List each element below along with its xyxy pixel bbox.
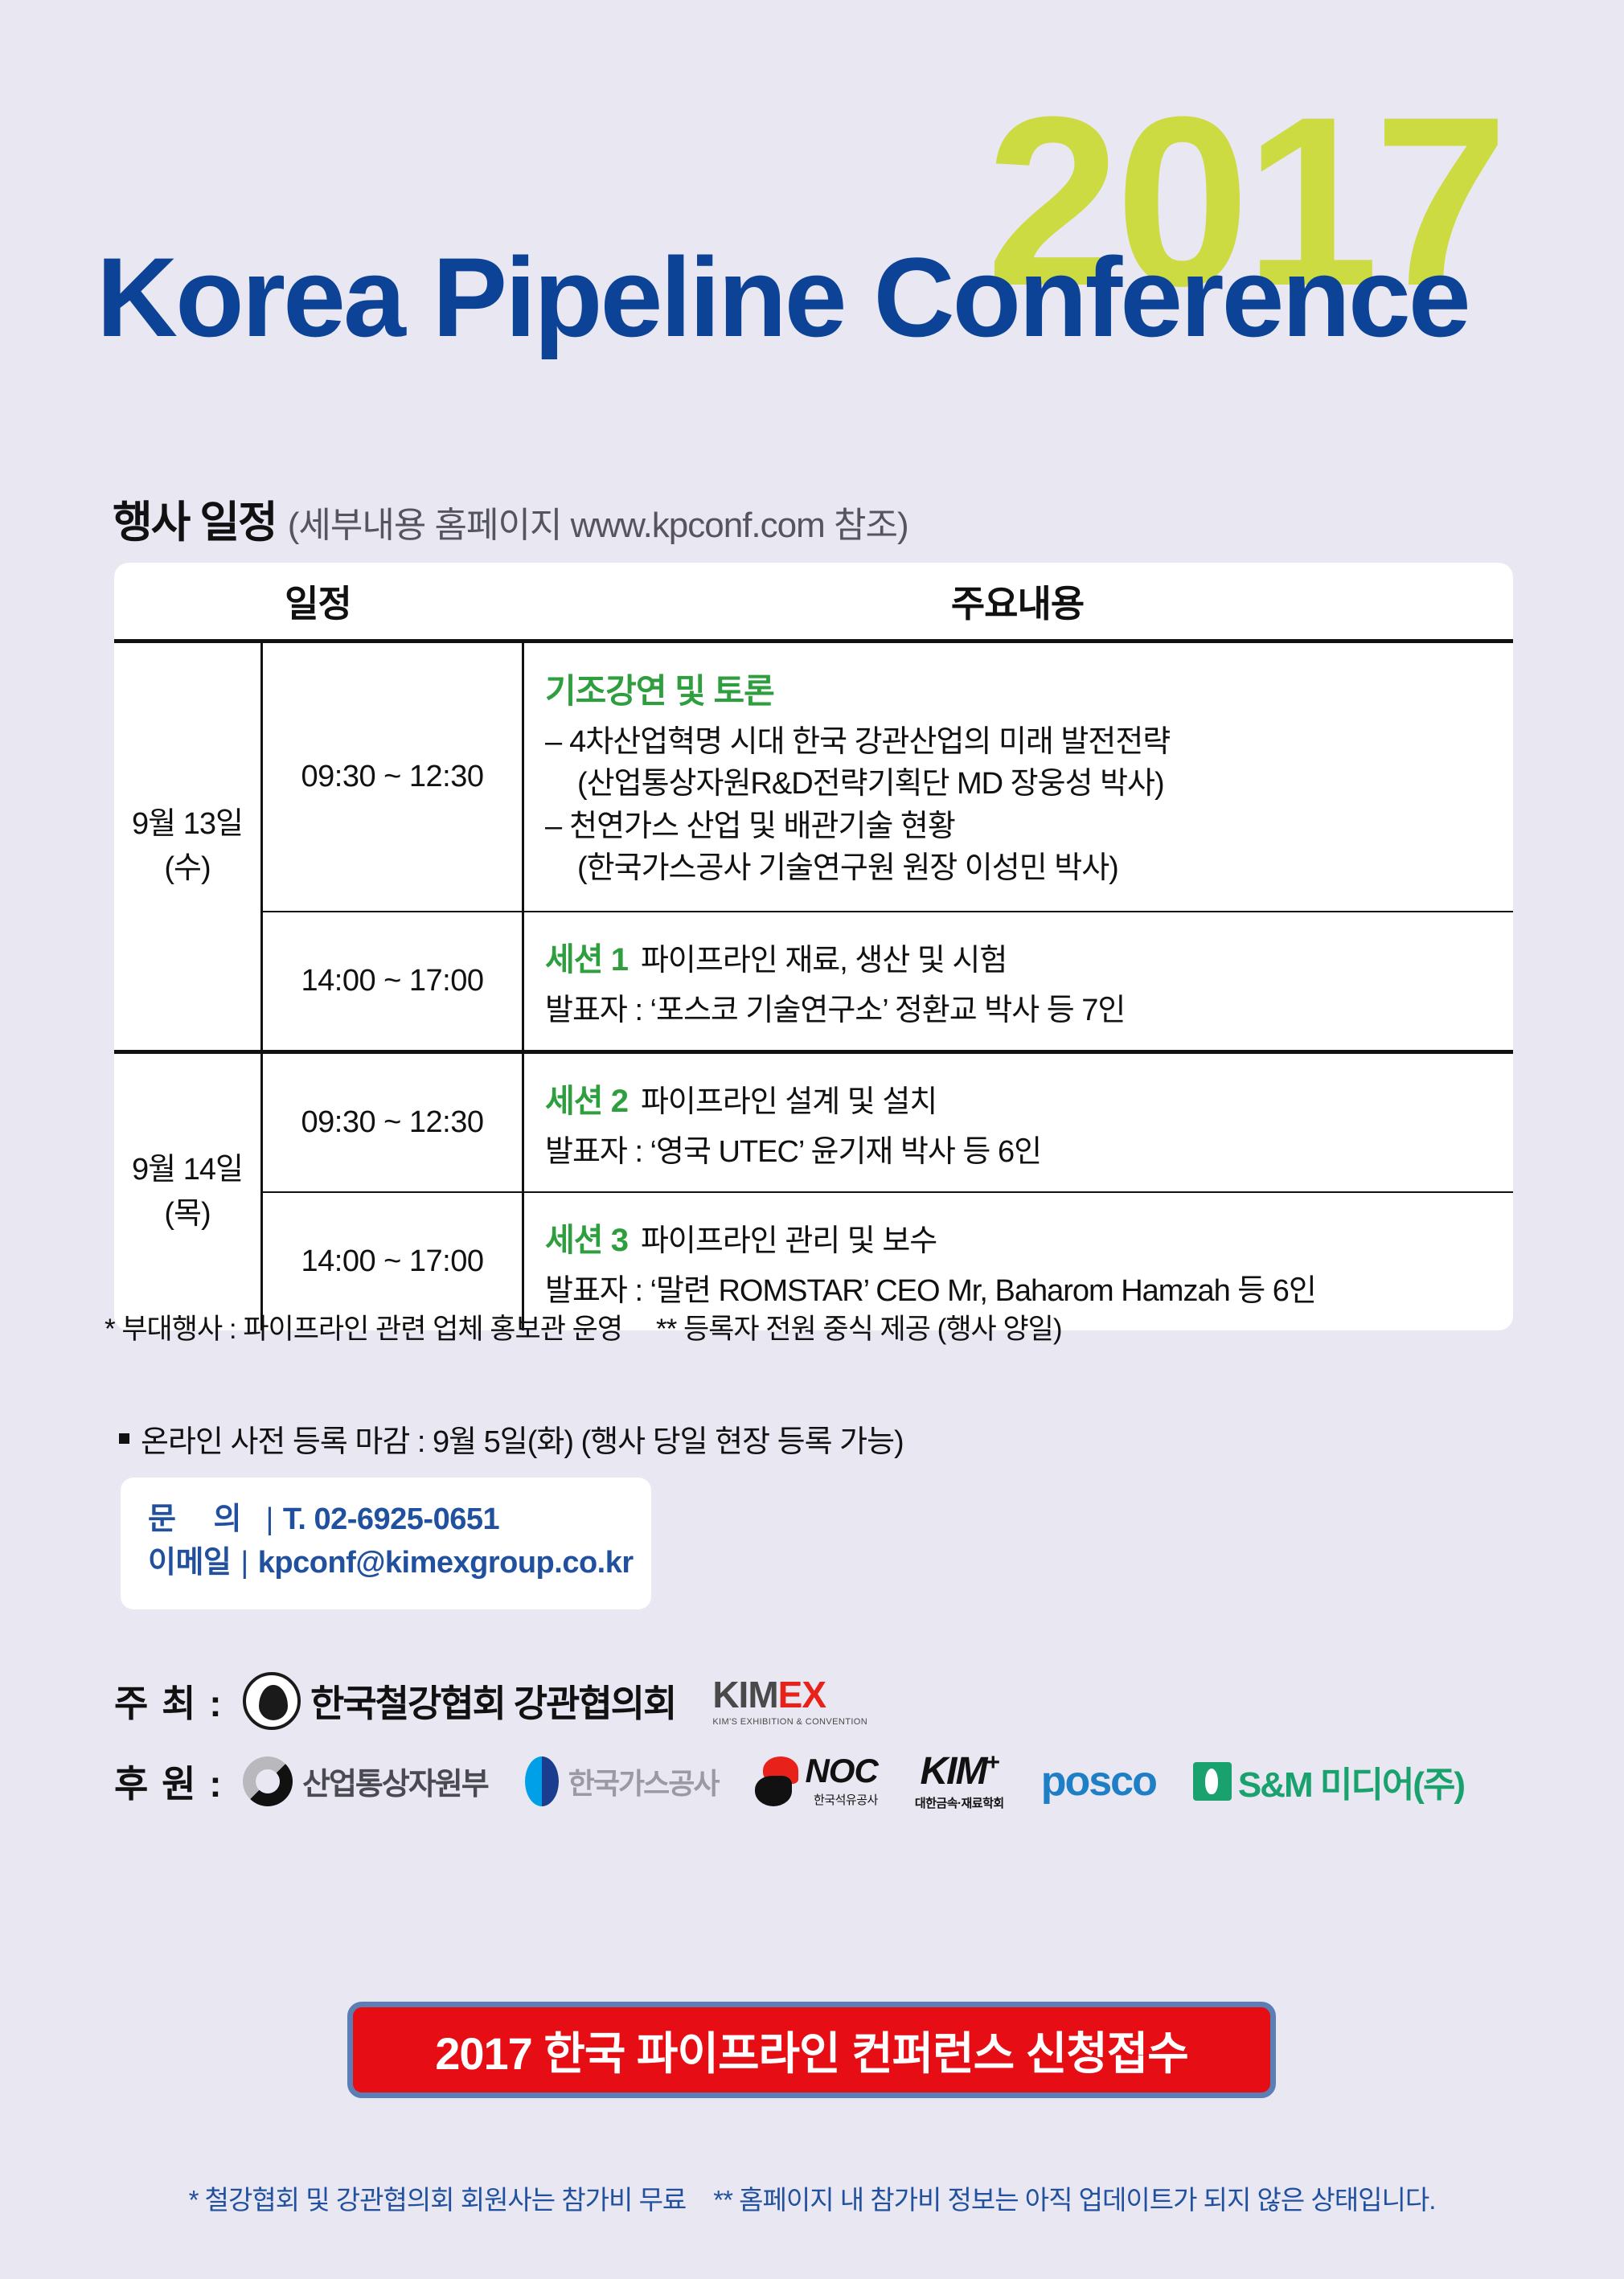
page-title: Korea Pipeline Conference bbox=[96, 241, 1469, 354]
session-speaker: 발표자 : ‘포스코 기술연구소’ 정환교 박사 등 7인 bbox=[545, 985, 1499, 1029]
bottom-note-1: * 철강협회 및 강관협의회 회원사는 참가비 무료 bbox=[189, 2185, 687, 2215]
kosa-logo: 한국철강협회 강관협의회 bbox=[243, 1672, 675, 1730]
knoc-logo: NOC 한국석유공사 bbox=[755, 1754, 877, 1808]
time-cell: 14:00 ~ 17:00 bbox=[260, 912, 522, 1050]
date-cell: 9월 14일 (목) bbox=[114, 1054, 260, 1330]
detail-cell: 기조강연 및 토론 –4차산업혁명 시대 한국 강관산업의 미래 발전전략 (산… bbox=[522, 643, 1513, 911]
sm-media-logo: S&M 미디어(주) bbox=[1193, 1756, 1464, 1807]
contact-phone-value[interactable]: T. 02-6925-0651 bbox=[283, 1498, 499, 1542]
contact-separator: | bbox=[240, 1542, 248, 1585]
knoc-logo-sub: 한국석유공사 bbox=[814, 1791, 878, 1808]
host-row: 주 최 : 한국철강협회 강관협의회 KIMEX KIM'S EXHIBITIO… bbox=[0, 1672, 1624, 1730]
kim-logo-main: KIM+ bbox=[921, 1751, 999, 1791]
posco-logo: posco bbox=[1041, 1757, 1156, 1806]
time-cell: 09:30 ~ 12:30 bbox=[260, 1054, 522, 1191]
dash-glyph: – bbox=[545, 810, 561, 843]
registration-note: 온라인 사전 등록 마감 : 9월 5일(화) (행사 당일 현장 등록 가능) bbox=[119, 1416, 904, 1461]
kosa-logo-text: 한국철강협회 강관협의회 bbox=[310, 1674, 675, 1728]
kimex-logo: KIMEX KIM'S EXHIBITION & CONVENTION bbox=[712, 1676, 867, 1727]
detail-cell: 세션 2 파이프라인 설계 및 설치 발표자 : ‘영국 UTEC’ 윤기재 박… bbox=[522, 1054, 1513, 1191]
supporter-row: 후 원 : 산업통상자원부 한국가스공사 NOC 한국석유공사 KIM+ 대한금… bbox=[0, 1751, 1624, 1811]
contact-box: 문 의 | T. 02-6925-0651 이메일 | kpconf@kimex… bbox=[121, 1478, 651, 1609]
posco-logo-text: posco bbox=[1041, 1757, 1156, 1806]
sm-media-mark-icon bbox=[1193, 1762, 1232, 1801]
kimex-logo-part2: EX bbox=[778, 1674, 826, 1715]
kimex-logo-sub: KIM'S EXHIBITION & CONVENTION bbox=[712, 1717, 867, 1727]
kim-logo-text: KIM bbox=[921, 1750, 986, 1793]
table-row: 09:30 ~ 12:30 세션 2 파이프라인 설계 및 설치 발표자 : ‘… bbox=[260, 1054, 1513, 1191]
dash-glyph: – bbox=[545, 725, 561, 759]
kimex-logo-main: KIMEX bbox=[712, 1676, 826, 1713]
schedule-heading-sub: (세부내용 홈페이지 www.kpconf.com 참조) bbox=[288, 496, 908, 547]
table-footnote: * 부대행사 : 파이프라인 관련 업체 홍보관 운영** 등록자 전원 중식 … bbox=[105, 1306, 1062, 1347]
kim-logo: KIM+ 대한금속·재료학회 bbox=[915, 1751, 1004, 1811]
kim-logo-sub: 대한금속·재료학회 bbox=[915, 1794, 1004, 1811]
date-cell: 9월 13일 (수) bbox=[114, 643, 260, 1050]
sm-media-logo-text: S&M 미디어(주) bbox=[1238, 1756, 1464, 1807]
poster-header: 2017 Korea Pipeline Conference bbox=[0, 0, 1624, 450]
kogas-logo: 한국가스공사 bbox=[525, 1756, 719, 1806]
keynote-heading: 기조강연 및 토론 bbox=[545, 664, 1499, 713]
keynote-item-sub: (산업통상자원R&D전략기획단 MD 장웅성 박사) bbox=[545, 763, 1499, 805]
schedule-table: 일정 주요내용 9월 13일 (수) 09:30 ~ 12:30 기조강연 및 … bbox=[114, 563, 1513, 1330]
keynote-item: –천연가스 산업 및 배관기술 현황 bbox=[545, 805, 1499, 847]
session-title-line: 세션 2 파이프라인 설계 및 설치 bbox=[545, 1075, 1499, 1121]
table-row: 09:30 ~ 12:30 기조강연 및 토론 –4차산업혁명 시대 한국 강관… bbox=[260, 643, 1513, 911]
date-label: 9월 13일 bbox=[132, 802, 243, 846]
column-header-details: 주요내용 bbox=[522, 563, 1513, 639]
sponsors-section: 주 최 : 한국철강협회 강관협의회 KIMEX KIM'S EXHIBITIO… bbox=[0, 1672, 1624, 1832]
footnote-1: * 부대행사 : 파이프라인 관련 업체 홍보관 운영 bbox=[105, 1314, 622, 1345]
taegeuk-icon bbox=[243, 1756, 293, 1806]
kosa-seal-icon bbox=[243, 1672, 301, 1730]
registration-cta-label: 2017 한국 파이프라인 컨퍼런스 신청접수 bbox=[435, 2018, 1188, 2083]
contact-email-label: 이메일 bbox=[148, 1542, 231, 1585]
motie-logo: 산업통상자원부 bbox=[243, 1756, 488, 1806]
weekday-label: (목) bbox=[164, 1192, 210, 1236]
session-title-line: 세션 3 파이프라인 관리 및 보수 bbox=[545, 1214, 1499, 1260]
session-tag: 세션 2 bbox=[545, 1075, 628, 1121]
contact-phone-line: 문 의 | T. 02-6925-0651 bbox=[148, 1498, 624, 1542]
session-topic: 파이프라인 설계 및 설치 bbox=[641, 1076, 937, 1121]
contact-email-value[interactable]: kpconf@kimexgroup.co.kr bbox=[258, 1542, 634, 1585]
contact-separator: | bbox=[265, 1498, 273, 1542]
session-tag: 세션 3 bbox=[545, 1214, 628, 1260]
weekday-label: (수) bbox=[164, 846, 210, 891]
knoc-mark-icon bbox=[755, 1756, 802, 1806]
session-tag: 세션 1 bbox=[545, 933, 628, 980]
table-header-row: 일정 주요내용 bbox=[114, 563, 1513, 643]
bottom-note-2: ** 홈페이지 내 참가비 정보는 아직 업데이트가 되지 않은 상태입니다. bbox=[713, 2185, 1435, 2215]
session-speaker: 발표자 : ‘영국 UTEC’ 윤기재 박사 등 6인 bbox=[545, 1126, 1499, 1170]
contact-phone-label: 문 의 bbox=[148, 1498, 256, 1542]
keynote-item-sub: (한국가스공사 기술연구원 원장 이성민 박사) bbox=[545, 847, 1499, 889]
bottom-note: * 철강협회 및 강관협의회 회원사는 참가비 무료** 홈페이지 내 참가비 … bbox=[0, 2179, 1624, 2217]
plus-icon: + bbox=[986, 1749, 999, 1776]
table-row: 14:00 ~ 17:00 세션 1 파이프라인 재료, 생산 및 시험 발표자… bbox=[260, 911, 1513, 1050]
keynote-item-text: 4차산업혁명 시대 한국 강관산업의 미래 발전전략 bbox=[569, 725, 1170, 759]
kogas-mark-icon bbox=[525, 1756, 559, 1806]
detail-cell: 세션 1 파이프라인 재료, 생산 및 시험 발표자 : ‘포스코 기술연구소’… bbox=[522, 912, 1513, 1050]
session-topic: 파이프라인 재료, 생산 및 시험 bbox=[641, 935, 1007, 979]
footnote-2: ** 등록자 전원 중식 제공 (행사 양일) bbox=[656, 1314, 1062, 1345]
keynote-item: –4차산업혁명 시대 한국 강관산업의 미래 발전전략 bbox=[545, 721, 1499, 763]
schedule-heading: 행사 일정 (세부내용 홈페이지 www.kpconf.com 참조) bbox=[113, 486, 908, 550]
kimex-logo-part1: KIM bbox=[712, 1674, 777, 1715]
session-speaker: 발표자 : ‘말련 ROMSTAR’ CEO Mr, Baharom Hamza… bbox=[545, 1265, 1499, 1310]
date-label: 9월 14일 bbox=[132, 1148, 243, 1192]
registration-note-text: 온라인 사전 등록 마감 : 9월 5일(화) (행사 당일 현장 등록 가능) bbox=[141, 1416, 904, 1461]
knoc-logo-main: NOC bbox=[805, 1754, 877, 1788]
table-date-group: 9월 14일 (목) 09:30 ~ 12:30 세션 2 파이프라인 설계 및… bbox=[114, 1050, 1513, 1330]
time-cell: 09:30 ~ 12:30 bbox=[260, 643, 522, 911]
kogas-logo-text: 한국가스공사 bbox=[568, 1760, 719, 1802]
column-header-schedule: 일정 bbox=[114, 563, 522, 639]
registration-cta-button[interactable]: 2017 한국 파이프라인 컨퍼런스 신청접수 bbox=[347, 2002, 1276, 2098]
motie-logo-text: 산업통상자원부 bbox=[302, 1759, 488, 1803]
square-bullet-icon bbox=[119, 1433, 129, 1444]
supporter-label: 후 원 : bbox=[114, 1755, 243, 1808]
schedule-heading-main: 행사 일정 bbox=[113, 486, 277, 550]
session-title-line: 세션 1 파이프라인 재료, 생산 및 시험 bbox=[545, 933, 1499, 980]
host-label: 주 최 : bbox=[114, 1674, 243, 1728]
contact-email-line: 이메일 | kpconf@kimexgroup.co.kr bbox=[148, 1542, 624, 1585]
table-date-group: 9월 13일 (수) 09:30 ~ 12:30 기조강연 및 토론 –4차산업… bbox=[114, 643, 1513, 1050]
keynote-item-text: 천연가스 산업 및 배관기술 현황 bbox=[569, 810, 955, 843]
session-topic: 파이프라인 관리 및 보수 bbox=[641, 1215, 937, 1260]
